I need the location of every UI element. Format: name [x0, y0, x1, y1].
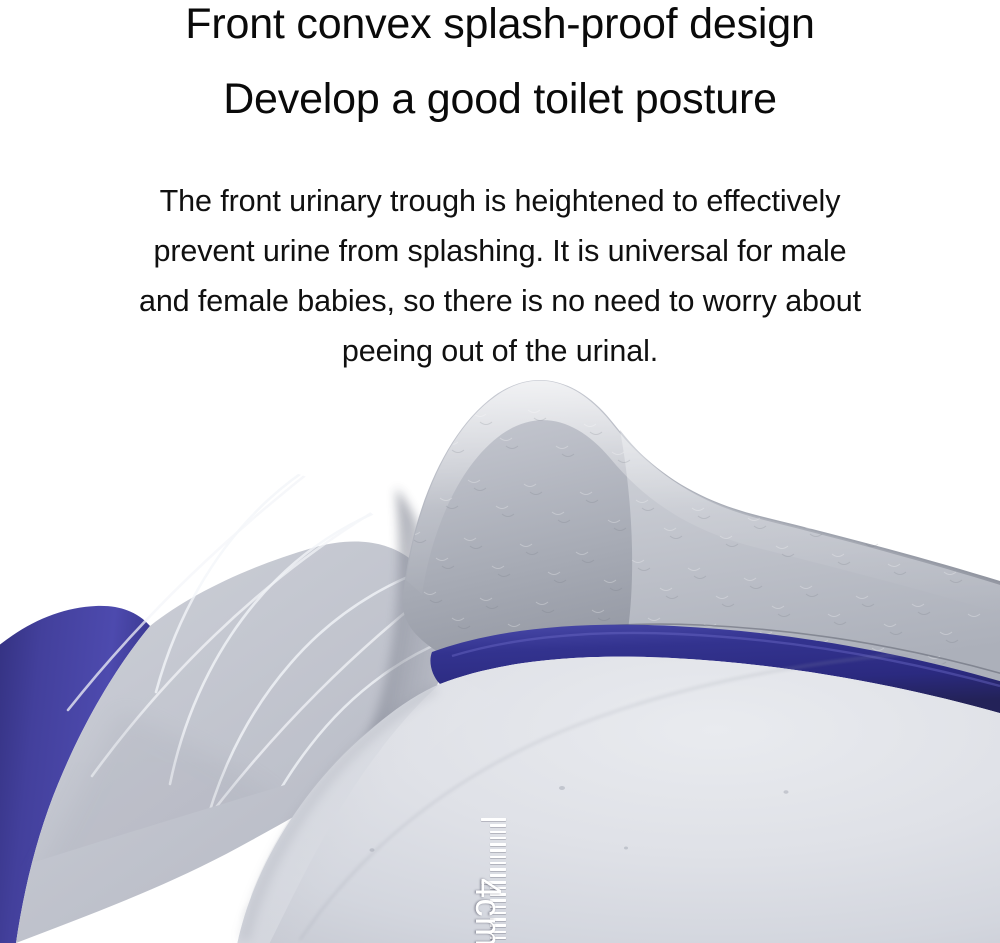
product-photo: 4cm: [0, 380, 1000, 943]
ruler-tick-minor: [490, 824, 506, 827]
ruler-tick-major: [481, 818, 506, 821]
body-line-2: prevent urine from splashing. It is univ…: [50, 226, 950, 276]
ruler-tick-minor: [490, 856, 506, 859]
ruler-tick-minor: [490, 837, 506, 840]
body-paragraph: The front urinary trough is heightened t…: [50, 176, 950, 376]
marketing-text-block: Front convex splash-proof design Develop…: [0, 0, 1000, 392]
ruler-measurement-label: 4cm: [467, 878, 509, 943]
ruler-annotation: 4cm: [481, 818, 561, 943]
body-line-4: peeing out of the urinal.: [50, 326, 950, 376]
ruler-tick-minor: [490, 868, 506, 871]
body-line-1: The front urinary trough is heightened t…: [50, 176, 950, 226]
ruler-tick-minor: [490, 862, 506, 865]
ruler-tick-minor: [490, 831, 506, 834]
body-line-3: and female babies, so there is no need t…: [50, 276, 950, 326]
ruler-tick-minor: [490, 843, 506, 846]
headline-line-1: Front convex splash-proof design: [0, 3, 1000, 46]
headline-line-2: Develop a good toilet posture: [0, 78, 1000, 121]
ruler-tick-minor: [490, 874, 506, 877]
ruler-tick-minor: [490, 849, 506, 852]
